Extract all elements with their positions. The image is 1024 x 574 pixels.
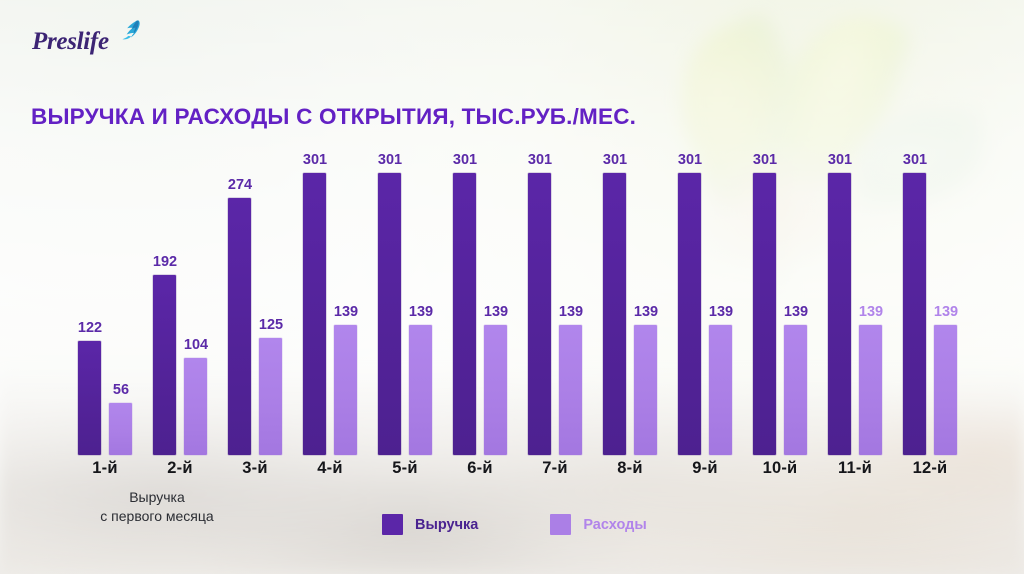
axis-category-label: 12-й [890,459,970,478]
bar-expenses[interactable] [784,325,807,455]
axis-category-label: 6-й [440,459,520,478]
axis-category-label: 2-й [140,459,220,478]
legend-label-revenue: Выручка [415,517,478,533]
axis-category-label: 9-й [665,459,745,478]
bar-group: 301139 [378,155,432,455]
bar-group: 301139 [678,155,732,455]
bar-value-expenses: 139 [623,305,669,320]
bar-group: 301139 [528,155,582,455]
bar-value-revenue: 301 [742,153,788,168]
annotation-revenue-from-first-month: Выручка с первого месяца [62,488,252,526]
annotation-line-2: с первого месяца [62,507,252,526]
bar-expenses[interactable] [409,325,432,455]
bar-expenses[interactable] [259,338,282,455]
bar-value-expenses: 125 [248,318,294,333]
axis-category-label: 10-й [740,459,820,478]
legend-item-expenses[interactable]: Расходы [550,514,646,535]
legend-swatch-icon [550,514,571,535]
bar-expenses[interactable] [334,325,357,455]
axis-category-label: 8-й [590,459,670,478]
legend-swatch-icon [382,514,403,535]
bar-revenue[interactable] [153,275,176,455]
bar-group: 301139 [603,155,657,455]
bar-expenses[interactable] [934,325,957,455]
bar-expenses[interactable] [709,325,732,455]
bar-group: 301139 [903,155,957,455]
bar-value-revenue: 301 [667,153,713,168]
bar-value-revenue: 301 [442,153,488,168]
bar-revenue[interactable] [78,341,101,455]
bar-value-revenue: 301 [367,153,413,168]
bar-value-revenue: 301 [517,153,563,168]
slide-canvas: Preslife ВЫРУЧКА И РАСХОДЫ С ОТКРЫТИЯ, Т… [0,0,1024,574]
bar-value-revenue: 301 [292,153,338,168]
axis-category-label: 3-й [215,459,295,478]
bar-value-expenses: 56 [98,383,144,398]
bar-expenses[interactable] [859,325,882,455]
legend-label-expenses: Расходы [583,517,646,533]
bar-group: 274125 [228,155,282,455]
axis-category-label: 7-й [515,459,595,478]
bar-value-expenses: 139 [923,305,969,320]
bar-value-expenses: 139 [773,305,819,320]
annotation-line-1: Выручка [62,488,252,507]
bar-group: 301139 [453,155,507,455]
bar-expenses[interactable] [559,325,582,455]
bar-value-expenses: 139 [473,305,519,320]
bar-value-revenue: 301 [892,153,938,168]
bar-value-expenses: 139 [548,305,594,320]
axis-category-label: 11-й [815,459,895,478]
axis-category-label: 4-й [290,459,370,478]
bar-value-revenue: 274 [217,178,263,193]
bar-value-revenue: 301 [592,153,638,168]
bar-value-expenses: 139 [323,305,369,320]
axis-category-label: 1-й [65,459,145,478]
bar-group: 301139 [753,155,807,455]
bar-expenses[interactable] [634,325,657,455]
bar-value-revenue: 122 [67,321,113,336]
bar-group: 12256 [78,155,132,455]
legend-item-revenue[interactable]: Выручка [382,514,478,535]
bar-value-expenses: 104 [173,338,219,353]
bar-expenses[interactable] [484,325,507,455]
bar-value-expenses: 139 [698,305,744,320]
bar-expenses[interactable] [184,358,207,455]
bar-expenses[interactable] [109,403,132,455]
bar-group: 192104 [153,155,207,455]
bar-value-revenue: 301 [817,153,863,168]
bar-group: 301139 [303,155,357,455]
bar-value-revenue: 192 [142,255,188,270]
bar-group: 301139 [828,155,882,455]
bar-value-expenses: 139 [848,305,894,320]
bar-value-expenses: 139 [398,305,444,320]
axis-category-label: 5-й [365,459,445,478]
chart-legend: Выручка Расходы [382,514,647,535]
